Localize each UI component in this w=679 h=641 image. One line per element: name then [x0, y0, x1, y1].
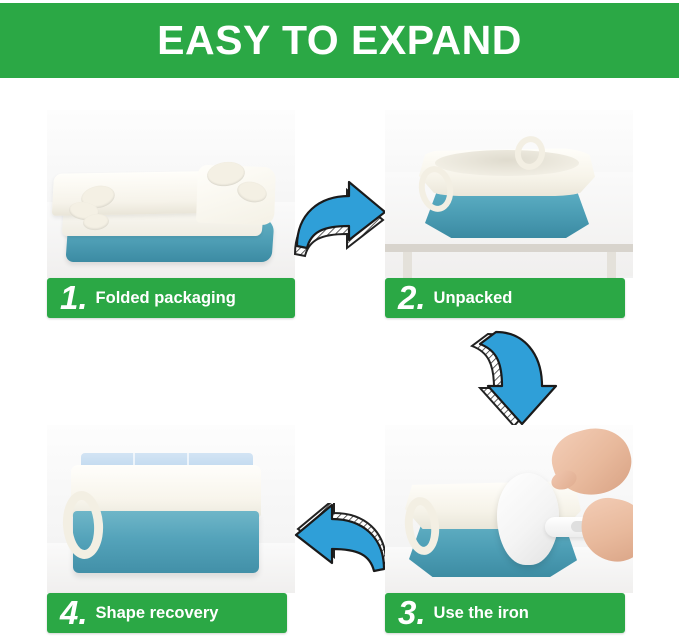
step-panel-2: 2. Unpacked — [385, 110, 633, 318]
folded-packaging-scene — [47, 110, 295, 278]
step-1-photo — [47, 110, 295, 278]
arrow-step1-to-step2 — [293, 178, 389, 258]
step-3-caption[interactable]: 3. Use the iron — [385, 593, 625, 633]
step-3-number: 3. — [398, 596, 426, 629]
step-1-caption[interactable]: 1. Folded packaging — [47, 278, 295, 318]
basket-interior — [435, 150, 579, 176]
step-4-label: Shape recovery — [96, 605, 219, 622]
step-1-number: 1. — [60, 281, 88, 314]
step-3-label: Use the iron — [434, 605, 529, 622]
shape-recovery-scene — [47, 425, 295, 593]
arrow-step2-to-step3 — [466, 330, 558, 430]
step-2-label: Unpacked — [434, 290, 513, 307]
arrow-step3-to-step4 — [292, 503, 388, 583]
unpacked-basket-scene — [385, 110, 633, 278]
step-1-label: Folded packaging — [96, 290, 236, 307]
step-2-number: 2. — [398, 281, 426, 314]
step-2-photo — [385, 110, 633, 278]
page-title: EASY TO EXPAND — [157, 20, 522, 61]
table-leg-right — [607, 252, 616, 278]
step-3-photo — [385, 425, 633, 593]
header-banner: EASY TO EXPAND — [0, 3, 679, 78]
step-panel-4: 4. Shape recovery — [47, 425, 295, 633]
arrow-right-icon — [293, 178, 389, 258]
step-4-photo — [47, 425, 295, 593]
step-panel-3: 3. Use the iron — [385, 425, 633, 633]
use-the-iron-scene — [385, 425, 633, 593]
step-2-caption[interactable]: 2. Unpacked — [385, 278, 625, 318]
arrow-down-icon — [466, 330, 558, 430]
arrow-left-icon — [292, 503, 388, 583]
step-4-caption[interactable]: 4. Shape recovery — [47, 593, 287, 633]
step-panel-1: 1. Folded packaging — [47, 110, 295, 318]
step-4-number: 4. — [60, 596, 88, 629]
table-leg-left — [403, 252, 412, 278]
table-edge — [385, 244, 633, 252]
